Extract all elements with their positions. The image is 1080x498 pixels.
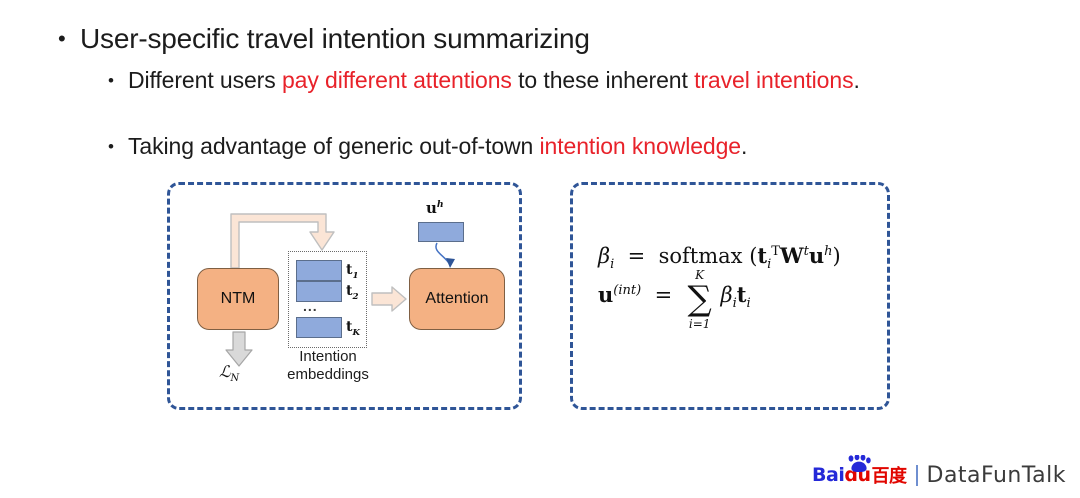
baidu-chinese-text: 百度: [872, 462, 907, 488]
text-segment: .: [741, 133, 747, 159]
bullet-level1: • User-specific travel intention summari…: [58, 22, 590, 56]
baidu-logo: Bai du 百度: [812, 462, 906, 488]
bullet-level2-first-text: Different users pay different attentions…: [128, 66, 860, 95]
text-segment: Taking advantage of generic out-of-town: [128, 133, 540, 159]
bullet-level2-first: • Different users pay different attentio…: [108, 66, 968, 95]
bullet-marker: •: [58, 22, 80, 56]
baidu-bai-text: Bai: [812, 464, 844, 486]
embedding-label-t1: t1: [346, 262, 359, 281]
embeddings-caption: Intention embeddings: [258, 348, 398, 384]
datafuntalk-text: DataFunTalk: [927, 463, 1067, 488]
text-segment: Different users: [128, 67, 282, 93]
embeddings-caption-line1: Intention: [299, 348, 357, 365]
embeddings-caption-line2: embeddings: [287, 366, 369, 383]
embedding-label-t2: t2: [346, 283, 359, 302]
bullet-marker: •: [108, 66, 128, 95]
ntm-label: NTM: [221, 290, 256, 308]
paw-print-icon: [846, 455, 872, 472]
ntm-box[interactable]: NTM: [197, 268, 279, 330]
bullet-level2-second-text: Taking advantage of generic out-of-town …: [128, 132, 747, 161]
text-segment: to these inherent: [512, 67, 694, 93]
embedding-ellipsis: ...: [303, 298, 318, 314]
bullet-level1-text: User-specific travel intention summarizi…: [80, 22, 590, 56]
user-embedding-rect: [418, 222, 464, 242]
logo-divider: [916, 465, 918, 486]
text-segment: .: [853, 67, 859, 93]
bullet-level2-second: • Taking advantage of generic out-of-tow…: [108, 132, 988, 161]
uh-label: uh: [426, 199, 444, 217]
text-segment-highlight: travel intentions: [694, 67, 853, 93]
embedding-label-tk: tK: [346, 319, 360, 338]
equation-beta: βi = softmax (tiTWtuh): [598, 243, 841, 272]
attention-box[interactable]: Attention: [409, 268, 505, 330]
sum-lower-limit: i=1: [689, 320, 711, 330]
embedding-rect-t1: [296, 260, 342, 281]
embedding-rect-tk: [296, 317, 342, 338]
equation-uint: u(int) = K ∑ i=1 βiti: [598, 282, 751, 313]
attention-label: Attention: [425, 290, 488, 308]
text-segment-highlight: pay different attentions: [282, 67, 512, 93]
sum-upper-limit: K: [695, 271, 704, 281]
bullet-marker: •: [108, 132, 128, 161]
footer-logo: Bai du 百度 DataFunTalk: [812, 460, 1066, 490]
summation-symbol: K ∑ i=1: [688, 286, 712, 313]
loss-label: ℒN: [219, 362, 239, 384]
text-segment-highlight: intention knowledge: [540, 133, 741, 159]
